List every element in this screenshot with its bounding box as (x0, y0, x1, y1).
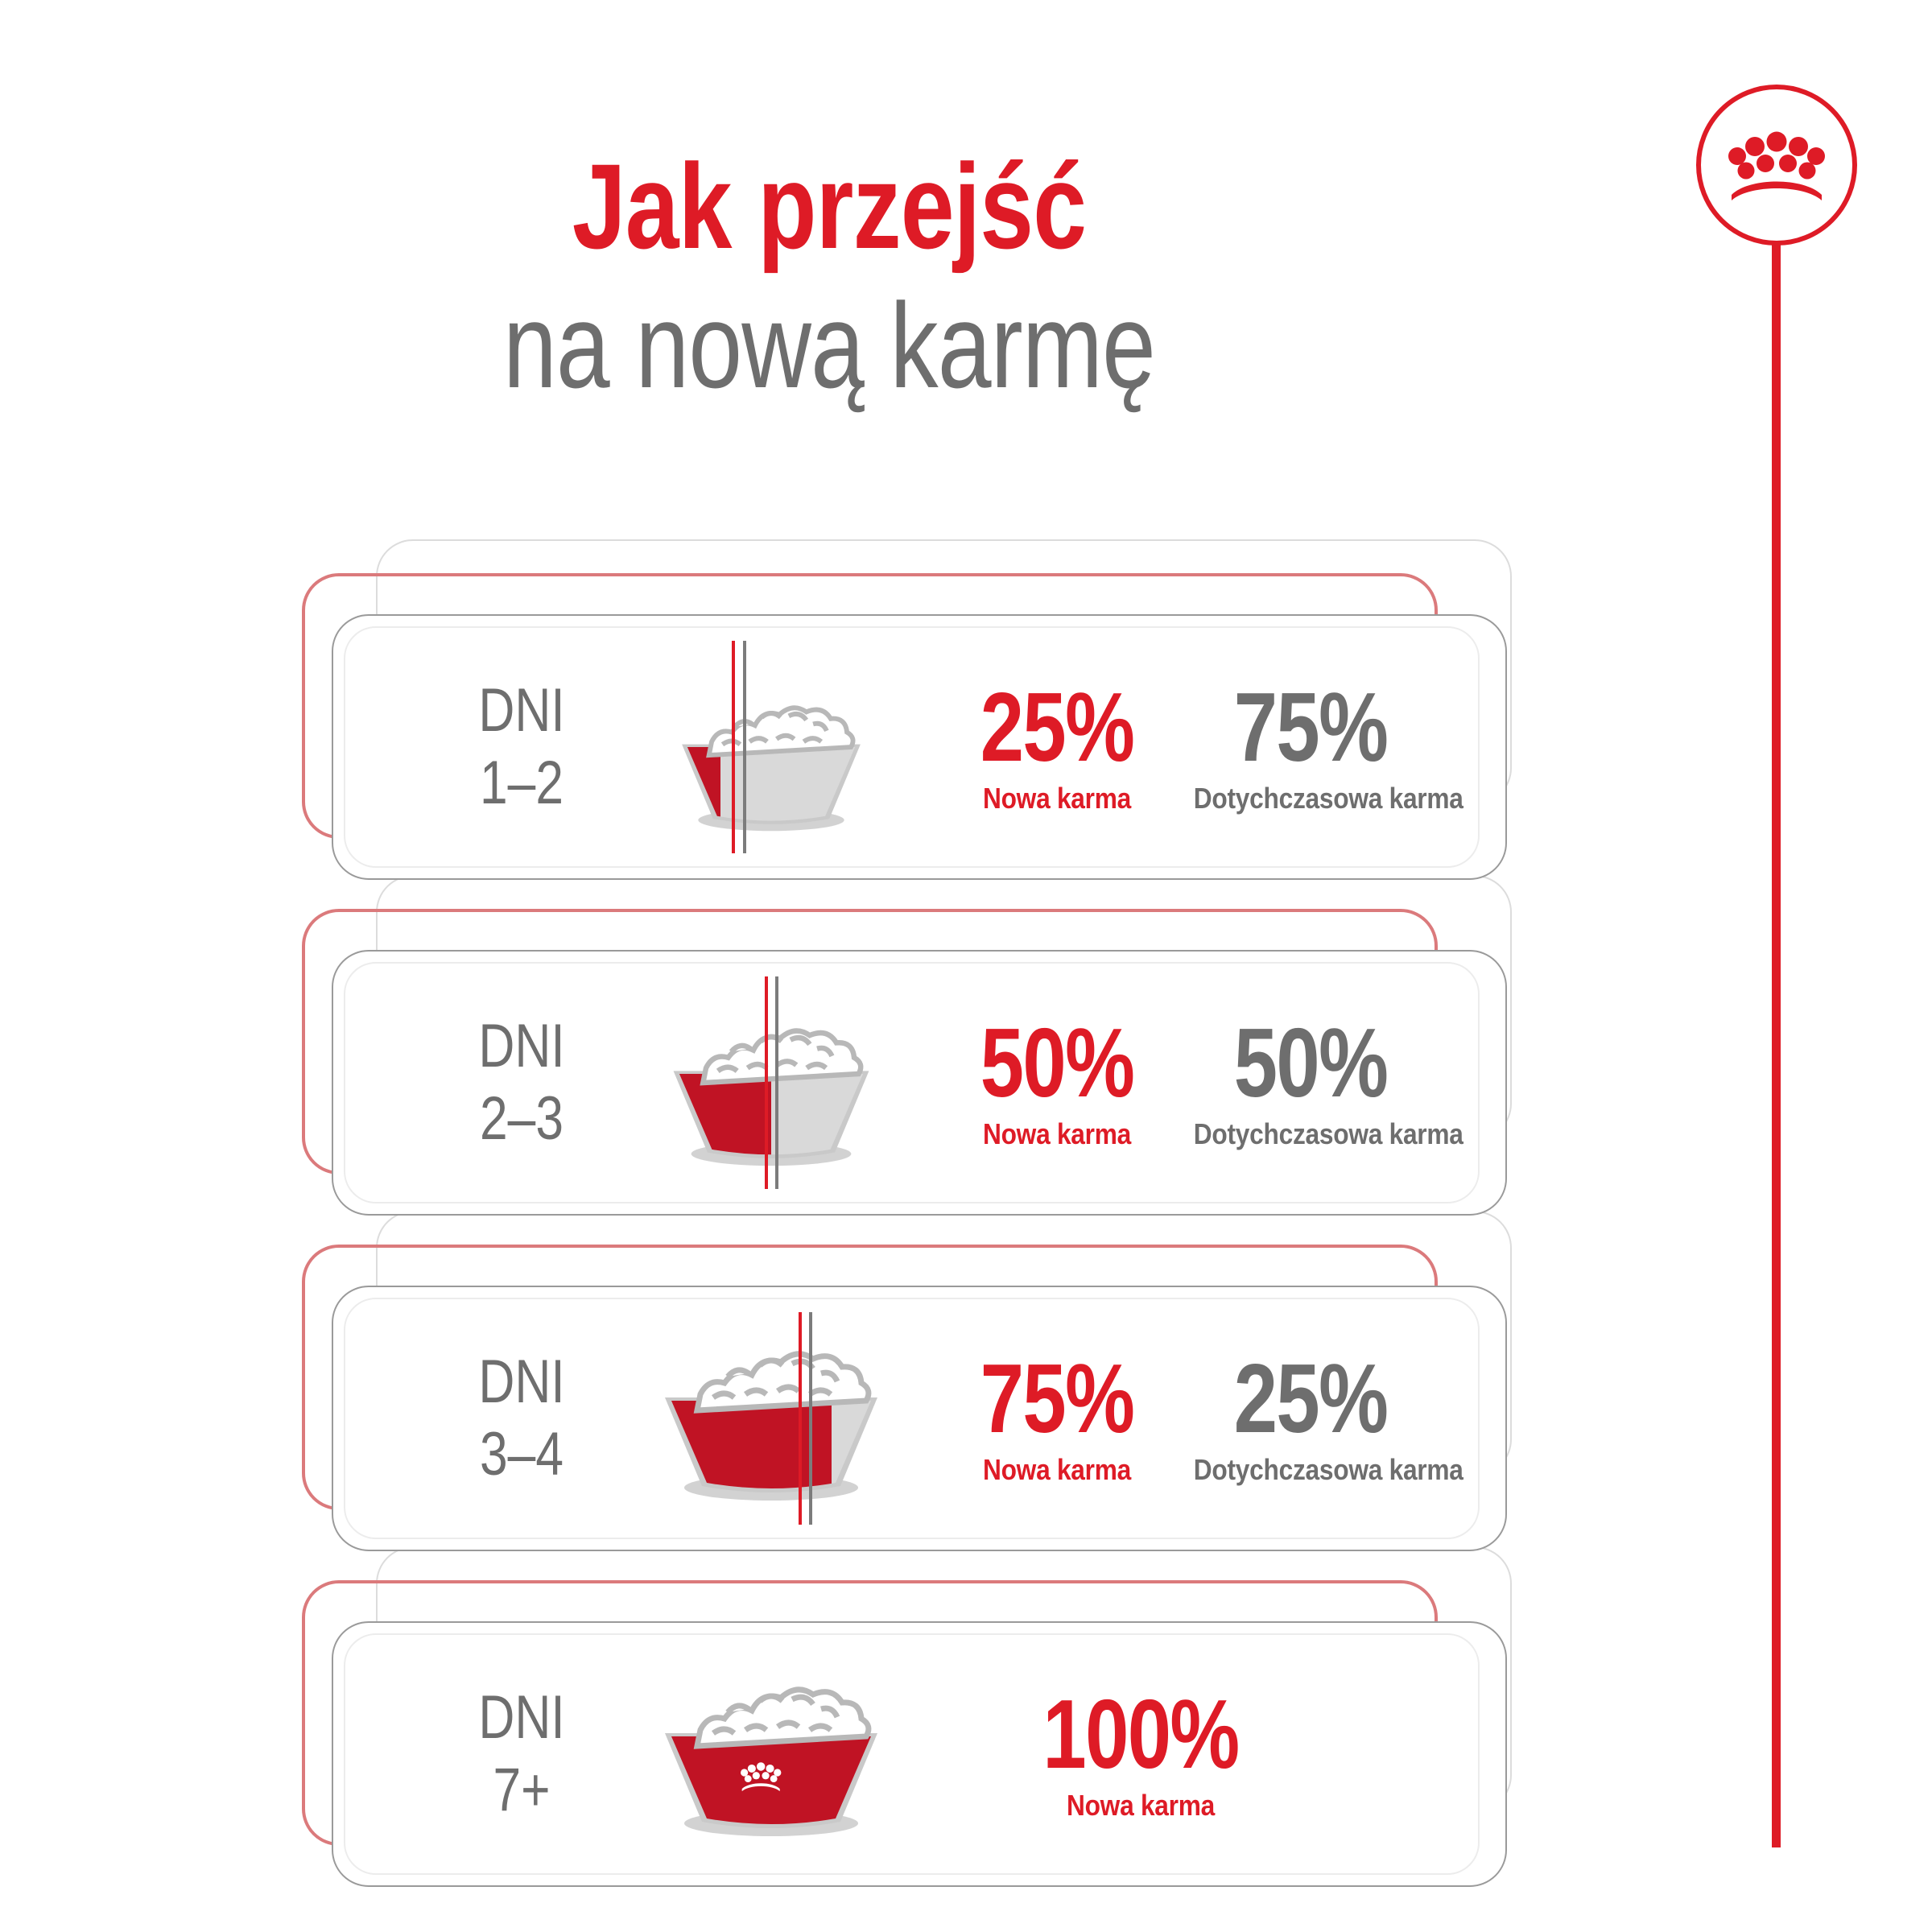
royal-canin-logo-badge (1696, 85, 1857, 246)
days-word: DNI (440, 680, 605, 741)
old-food-label: Dotychczasowa karma (1194, 1120, 1427, 1149)
new-food-label: Nowa karma (951, 1120, 1163, 1149)
old-food-column: 50% Dotychczasowa karma (1178, 1017, 1443, 1149)
bowl-illustration (622, 962, 920, 1203)
transition-row: DNI 7+ (0, 1571, 1932, 1889)
new-food-label: Nowa karma (951, 1455, 1163, 1484)
page-title-line2: na nową karmę (166, 283, 1492, 410)
transition-row: DNI 2–3 50% (0, 899, 1932, 1217)
bowl-illustration (622, 1298, 920, 1539)
new-food-column: 75% Nowa karma (936, 1352, 1178, 1484)
food-bowl-icon (670, 679, 873, 840)
new-food-column: 50% Nowa karma (936, 1017, 1178, 1149)
old-food-percent: 50% (1204, 1017, 1417, 1110)
days-range: 2–3 (440, 1088, 605, 1150)
new-food-column: 25% Nowa karma (936, 681, 1178, 813)
new-food-percent: 75% (960, 1352, 1154, 1446)
new-food-percent: 25% (960, 681, 1154, 774)
divider-line-gray (775, 976, 778, 1189)
food-bowl-icon (660, 1000, 882, 1176)
new-food-percent: 100% (1005, 1688, 1276, 1781)
old-food-column: 25% Dotychczasowa karma (1178, 1352, 1443, 1484)
divider-line-gray (809, 1312, 812, 1525)
old-food-label: Dotychczasowa karma (1194, 1455, 1427, 1484)
transition-row: DNI 3–4 75% (0, 1235, 1932, 1553)
new-food-label: Nowa karma (951, 784, 1163, 813)
bowl-illustration (622, 1633, 920, 1875)
old-food-percent: 25% (1204, 1352, 1417, 1446)
percentages-block: 50% Nowa karma 50% Dotychczasowa karma (920, 1017, 1480, 1149)
food-bowl-icon (650, 1320, 892, 1512)
divider-line-red (765, 976, 768, 1189)
royal-canin-crown-icon (1728, 131, 1825, 200)
days-block: DNI 3–4 (421, 1352, 622, 1485)
new-food-column: 100% Nowa karma (972, 1688, 1310, 1820)
food-bowl-icon (650, 1656, 892, 1847)
percentages-block: 25% Nowa karma 75% Dotychczasowa karma (920, 681, 1480, 813)
days-word: DNI (440, 1687, 605, 1748)
page-header: Jak przejść na nową karmę (0, 145, 1658, 410)
divider-line-red (799, 1312, 802, 1525)
new-food-percent: 50% (960, 1017, 1154, 1110)
days-range: 3–4 (440, 1424, 605, 1485)
days-range: 7+ (440, 1760, 605, 1821)
bowl-illustration (622, 626, 920, 868)
days-word: DNI (440, 1016, 605, 1077)
old-food-label: Dotychczasowa karma (1194, 784, 1427, 813)
days-range: 1–2 (440, 753, 605, 814)
page-title-line1: Jak przejść (166, 145, 1492, 268)
percentages-block: 100% Nowa karma (920, 1688, 1480, 1820)
divider-line-gray (743, 641, 746, 853)
percentages-block: 75% Nowa karma 25% Dotychczasowa karma (920, 1352, 1480, 1484)
days-block: DNI 1–2 (421, 680, 622, 814)
divider-line-red (732, 641, 735, 853)
logo-vertical-stem (1772, 242, 1781, 1847)
days-word: DNI (440, 1352, 605, 1413)
transition-row: DNI 1–2 (0, 563, 1932, 881)
days-block: DNI 7+ (421, 1687, 622, 1821)
old-food-percent: 75% (1204, 681, 1417, 774)
days-block: DNI 2–3 (421, 1016, 622, 1150)
new-food-label: Nowa karma (992, 1791, 1290, 1820)
old-food-column: 75% Dotychczasowa karma (1178, 681, 1443, 813)
